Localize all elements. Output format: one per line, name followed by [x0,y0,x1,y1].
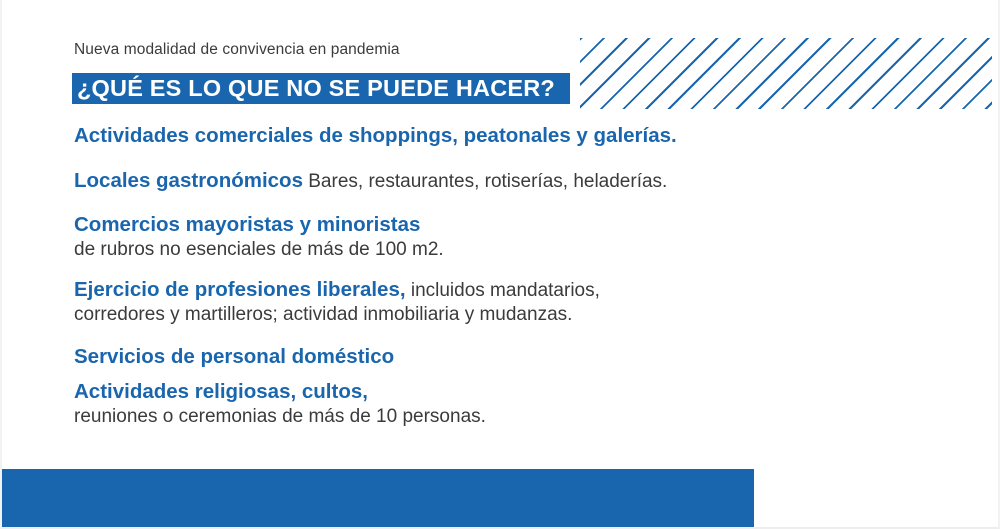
list-item-main-line: Ejercicio de profesiones liberales, incl… [74,277,954,303]
kicker-text: Nueva modalidad de convivencia en pandem… [74,41,400,59]
infographic-poster: Nueva modalidad de convivencia en pandem… [0,0,1000,529]
title-banner: ¿QUÉ ES LO QUE NO SE PUEDE HACER? [72,73,570,104]
list-item-lead: Comercios mayoristas y minoristas [74,213,420,236]
list-item-trail: Bares, restaurantes, rotiserías, helader… [303,171,667,192]
prohibited-activities-list: Actividades comerciales de shoppings, pe… [74,123,954,430]
list-item-sub-line: reuniones o ceremonias de más de 10 pers… [74,405,954,429]
diagonal-stripes-icon [580,38,992,109]
list-item-lead: Locales gastronómicos [74,169,303,192]
list-item-lead: Actividades religiosas, cultos, [74,380,368,403]
list-item-main-line: Servicios de personal doméstico [74,344,954,370]
list-item-lead: Ejercicio de profesiones liberales, [74,278,406,301]
page-title: ¿QUÉ ES LO QUE NO SE PUEDE HACER? [72,75,555,102]
list-item: Ejercicio de profesiones liberales, incl… [74,277,954,327]
list-item-trail: incluidos mandatarios, [406,280,600,301]
list-item-lead: Servicios de personal doméstico [74,345,394,368]
list-item: Actividades religiosas, cultos, reunione… [74,379,954,429]
list-item-lead: Actividades comerciales de shoppings, pe… [74,124,677,147]
list-item: Locales gastronómicos Bares, restaurante… [74,168,954,194]
list-item: Comercios mayoristas y minoristas de rub… [74,212,954,262]
list-item-main-line: Actividades religiosas, cultos, [74,379,954,405]
list-item-sub-line: corredores y martilleros; actividad inmo… [74,303,954,327]
list-item-main-line: Locales gastronómicos Bares, restaurante… [74,168,954,194]
list-item-sub-line: de rubros no esenciales de más de 100 m2… [74,238,954,262]
list-item: Actividades comerciales de shoppings, pe… [74,123,954,149]
list-item: Servicios de personal doméstico [74,344,954,370]
list-item-main-line: Comercios mayoristas y minoristas [74,212,954,238]
bottom-blue-bar [2,469,754,529]
list-item-main-line: Actividades comerciales de shoppings, pe… [74,123,954,149]
